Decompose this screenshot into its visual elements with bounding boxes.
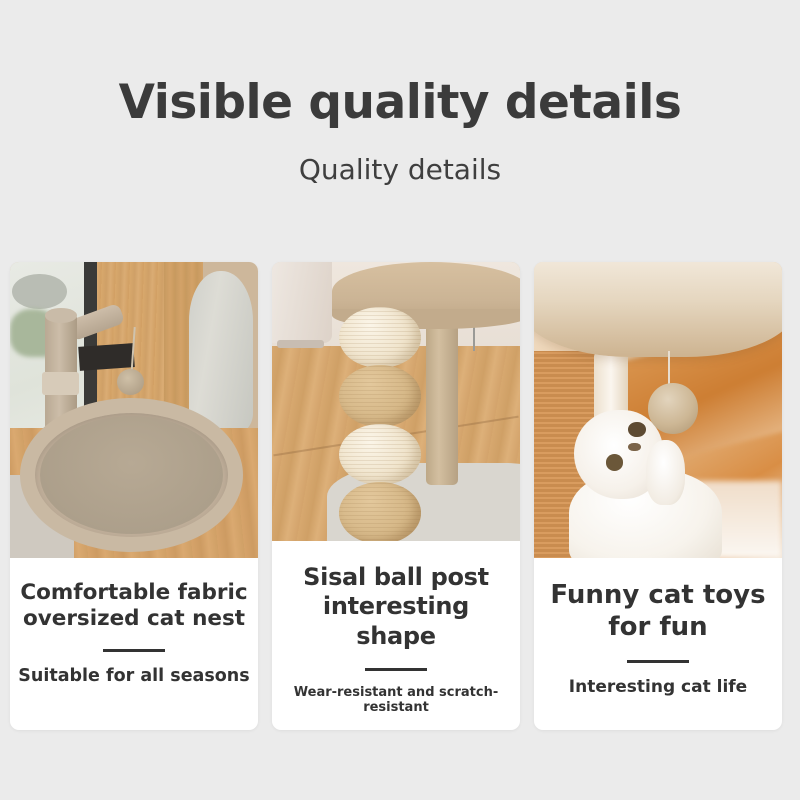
rope-texture (339, 424, 421, 485)
post-fabric-band (42, 372, 79, 396)
card-title: Sisal ball post interesting shape (280, 563, 512, 651)
feature-card-row: Comfortable fabric oversized cat nest Su… (10, 262, 790, 730)
card-subtitle: Suitable for all seasons (18, 666, 249, 687)
post-top-cap (45, 308, 77, 323)
sisal-ball-2 (339, 365, 421, 426)
cat-eye-right (628, 422, 645, 437)
cat-nest-cushion (40, 416, 224, 534)
sisal-ball-3 (339, 424, 421, 485)
sisal-ball-1 (339, 307, 421, 368)
floor-lamp-base (277, 340, 324, 348)
card-divider (627, 660, 689, 663)
card-subtitle: Interesting cat life (569, 677, 747, 697)
card-divider (365, 668, 427, 671)
secondary-post (426, 318, 458, 485)
sisal-ball-4 (339, 482, 421, 541)
product-photo-cat-nest (10, 262, 258, 558)
card-title: Funny cat toys for fun (542, 580, 774, 643)
cat-paw (646, 440, 686, 505)
feature-card-funny-cat-toys[interactable]: Funny cat toys for fun Interesting cat l… (534, 262, 782, 730)
floor-lamp-shade (272, 262, 332, 343)
card-divider (103, 649, 165, 652)
card-body: Comfortable fabric oversized cat nest Su… (10, 558, 258, 730)
page-header: Visible quality details Quality details (0, 0, 800, 186)
card-body: Sisal ball post interesting shape Wear-r… (272, 541, 520, 730)
rope-texture (339, 365, 421, 426)
product-photo-sisal-post (272, 262, 520, 541)
stone-vase (189, 271, 253, 437)
card-title: Comfortable fabric oversized cat nest (18, 580, 250, 632)
feature-card-comfortable-fabric[interactable]: Comfortable fabric oversized cat nest Su… (10, 262, 258, 730)
outdoor-rock (12, 274, 67, 310)
rope-texture (339, 307, 421, 368)
product-detail-page: Visible quality details Quality details (0, 0, 800, 800)
feature-card-sisal-ball-post[interactable]: Sisal ball post interesting shape Wear-r… (272, 262, 520, 730)
hanging-ball-toy (117, 369, 144, 396)
product-photo-cat-playing (534, 262, 782, 558)
rope-texture (339, 482, 421, 541)
page-title: Visible quality details (0, 78, 800, 127)
page-subtitle: Quality details (0, 155, 800, 186)
cat-eye-left (606, 454, 623, 470)
dark-ledge (79, 343, 135, 370)
card-subtitle: Wear-resistant and scratch-resistant (280, 685, 512, 716)
cat-nose (628, 443, 640, 452)
hanging-ball-toy (648, 383, 698, 433)
card-body: Funny cat toys for fun Interesting cat l… (534, 558, 782, 730)
cushioned-platform (534, 262, 782, 357)
